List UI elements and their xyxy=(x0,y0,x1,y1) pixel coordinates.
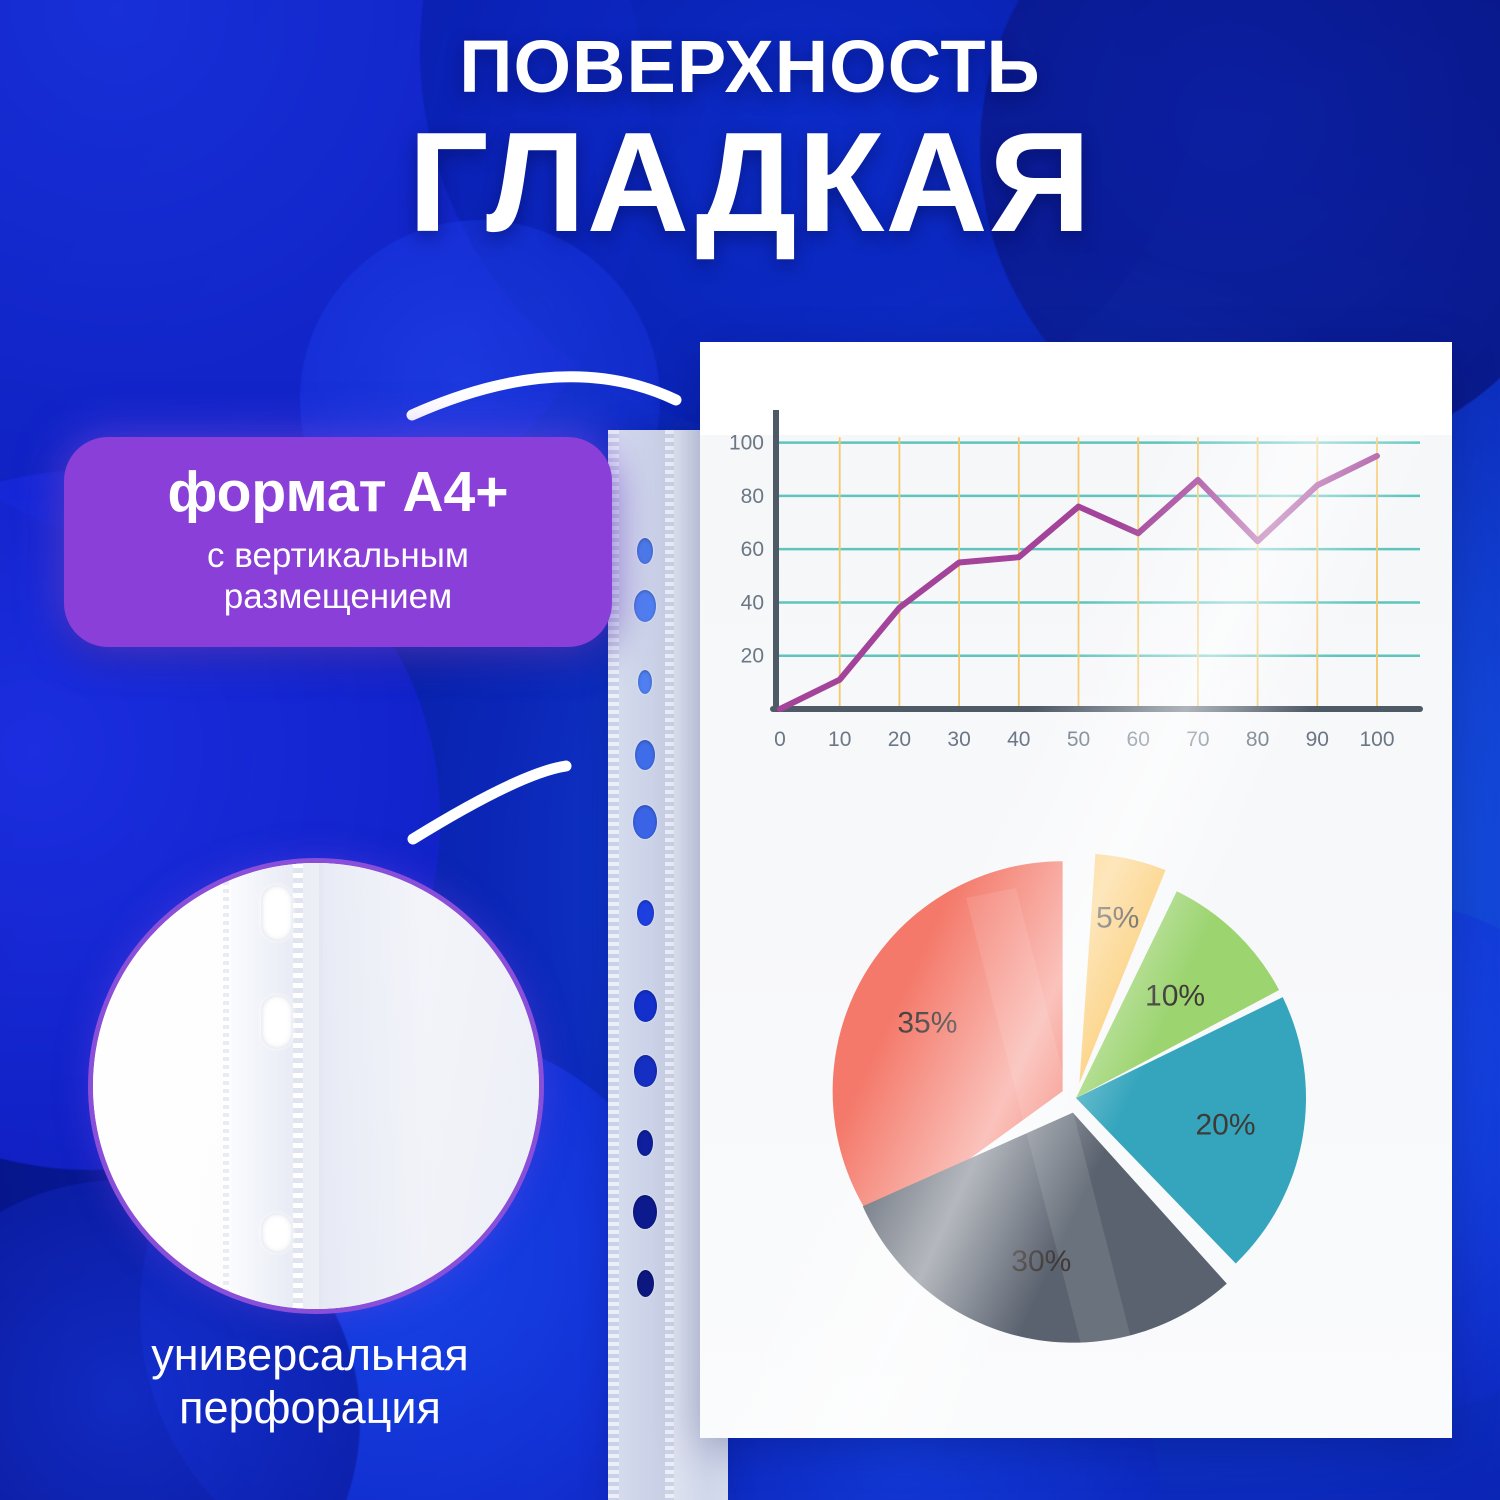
x-tick-label: 10 xyxy=(828,728,851,751)
headline-main: ГЛАДКАЯ xyxy=(0,112,1500,254)
y-tick-label: 100 xyxy=(729,432,764,455)
sleeve-punch-hole xyxy=(637,1130,653,1156)
y-tick-label: 40 xyxy=(741,591,764,614)
line-chart: 20406080100 0102030405060708090100 xyxy=(720,402,1432,772)
sleeve-punch-hole xyxy=(637,900,654,926)
pie-slice-label: 35% xyxy=(897,1006,957,1039)
sleeve-edge-right xyxy=(665,430,674,1500)
product-banner: ПОВЕРХНОСТЬ ГЛАДКАЯ формат А4+ с вертика… xyxy=(0,0,1500,1500)
sleeve-punch-hole xyxy=(633,1195,657,1229)
sleeve-punch-hole xyxy=(634,590,656,622)
pie-slice-label: 30% xyxy=(1011,1245,1071,1278)
inset-embossed-seam-right xyxy=(293,858,303,1314)
y-tick-label: 60 xyxy=(741,538,764,561)
y-tick-label: 80 xyxy=(741,485,764,508)
y-tick-label: 20 xyxy=(741,645,764,668)
x-tick-label: 20 xyxy=(888,728,911,751)
x-tick-label: 50 xyxy=(1067,728,1090,751)
x-tick-label: 80 xyxy=(1246,728,1269,751)
format-badge: формат А4+ с вертикальным размещением xyxy=(64,437,612,647)
document-paper: 20406080100 0102030405060708090100 35%5%… xyxy=(700,342,1452,1438)
sleeve-punch-hole xyxy=(634,1055,657,1087)
x-tick-label: 100 xyxy=(1359,728,1394,751)
format-badge-subtitle-line2: размещением xyxy=(90,576,586,617)
inset-punch-hole xyxy=(261,995,293,1049)
inset-shading xyxy=(319,863,544,1309)
perforation-caption-line2: перфорация xyxy=(0,1381,620,1434)
sleeve-punch-hole xyxy=(637,1270,654,1297)
sleeve-punch-hole xyxy=(633,805,657,839)
sleeve-punch-hole xyxy=(638,670,652,694)
format-badge-subtitle-line1: с вертикальным xyxy=(90,535,586,576)
pie-slice-label: 5% xyxy=(1096,902,1139,935)
x-tick-label: 40 xyxy=(1007,728,1030,751)
x-tick-label: 70 xyxy=(1186,728,1209,751)
perforation-caption: универсальная перфорация xyxy=(0,1328,620,1434)
x-tick-label: 60 xyxy=(1127,728,1150,751)
x-tick-label: 30 xyxy=(947,728,970,751)
x-tick-label: 90 xyxy=(1306,728,1329,751)
format-badge-title: формат А4+ xyxy=(90,463,586,523)
sleeve-punch-hole xyxy=(634,990,657,1022)
sleeve-punch-hole xyxy=(637,538,653,564)
sleeve-punch-hole xyxy=(635,740,655,770)
inset-punch-hole xyxy=(261,885,293,941)
x-tick-label: 0 xyxy=(774,728,786,751)
pie-chart: 35%5%10%20%30% xyxy=(710,802,1442,1402)
pie-slice-label: 10% xyxy=(1145,979,1205,1012)
line-chart-y-tick-labels: 20406080100 xyxy=(729,432,764,668)
headline-top: ПОВЕРХНОСТЬ xyxy=(0,30,1500,104)
inset-punch-hole xyxy=(261,1213,293,1253)
line-chart-x-tick-labels: 0102030405060708090100 xyxy=(774,728,1394,751)
perforation-detail-inset xyxy=(88,858,544,1314)
line-chart-gridlines xyxy=(776,443,1420,656)
perforation-caption-line1: универсальная xyxy=(0,1328,620,1381)
pie-slice-label: 20% xyxy=(1195,1108,1255,1141)
inset-embossed-seam-left xyxy=(223,858,229,1314)
line-chart-vertical-lines xyxy=(840,437,1377,709)
